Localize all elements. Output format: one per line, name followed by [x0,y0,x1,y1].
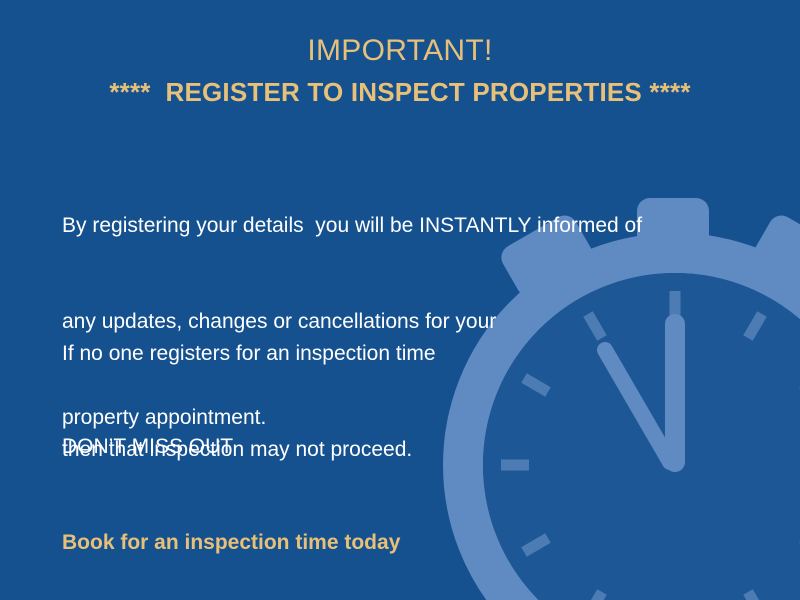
paragraph-intro-line-1: By registering your details you will be … [62,210,642,242]
headline-primary: IMPORTANT! [0,33,800,69]
slide-content: IMPORTANT! **** REGISTER TO INSPECT PROP… [0,0,800,600]
paragraph-warning-line-1: If no one registers for an inspection ti… [62,338,436,370]
call-to-action-block: DON’T MISS OUT Book for an inspection ti… [62,367,400,600]
cta-lead-text: DON’T MISS OUT [62,431,400,463]
headline-secondary: **** REGISTER TO INSPECT PROPERTIES **** [0,76,800,108]
cta-line-1: Book for an inspection time today [62,527,400,559]
slide-canvas: IMPORTANT! **** REGISTER TO INSPECT PROP… [0,0,800,600]
